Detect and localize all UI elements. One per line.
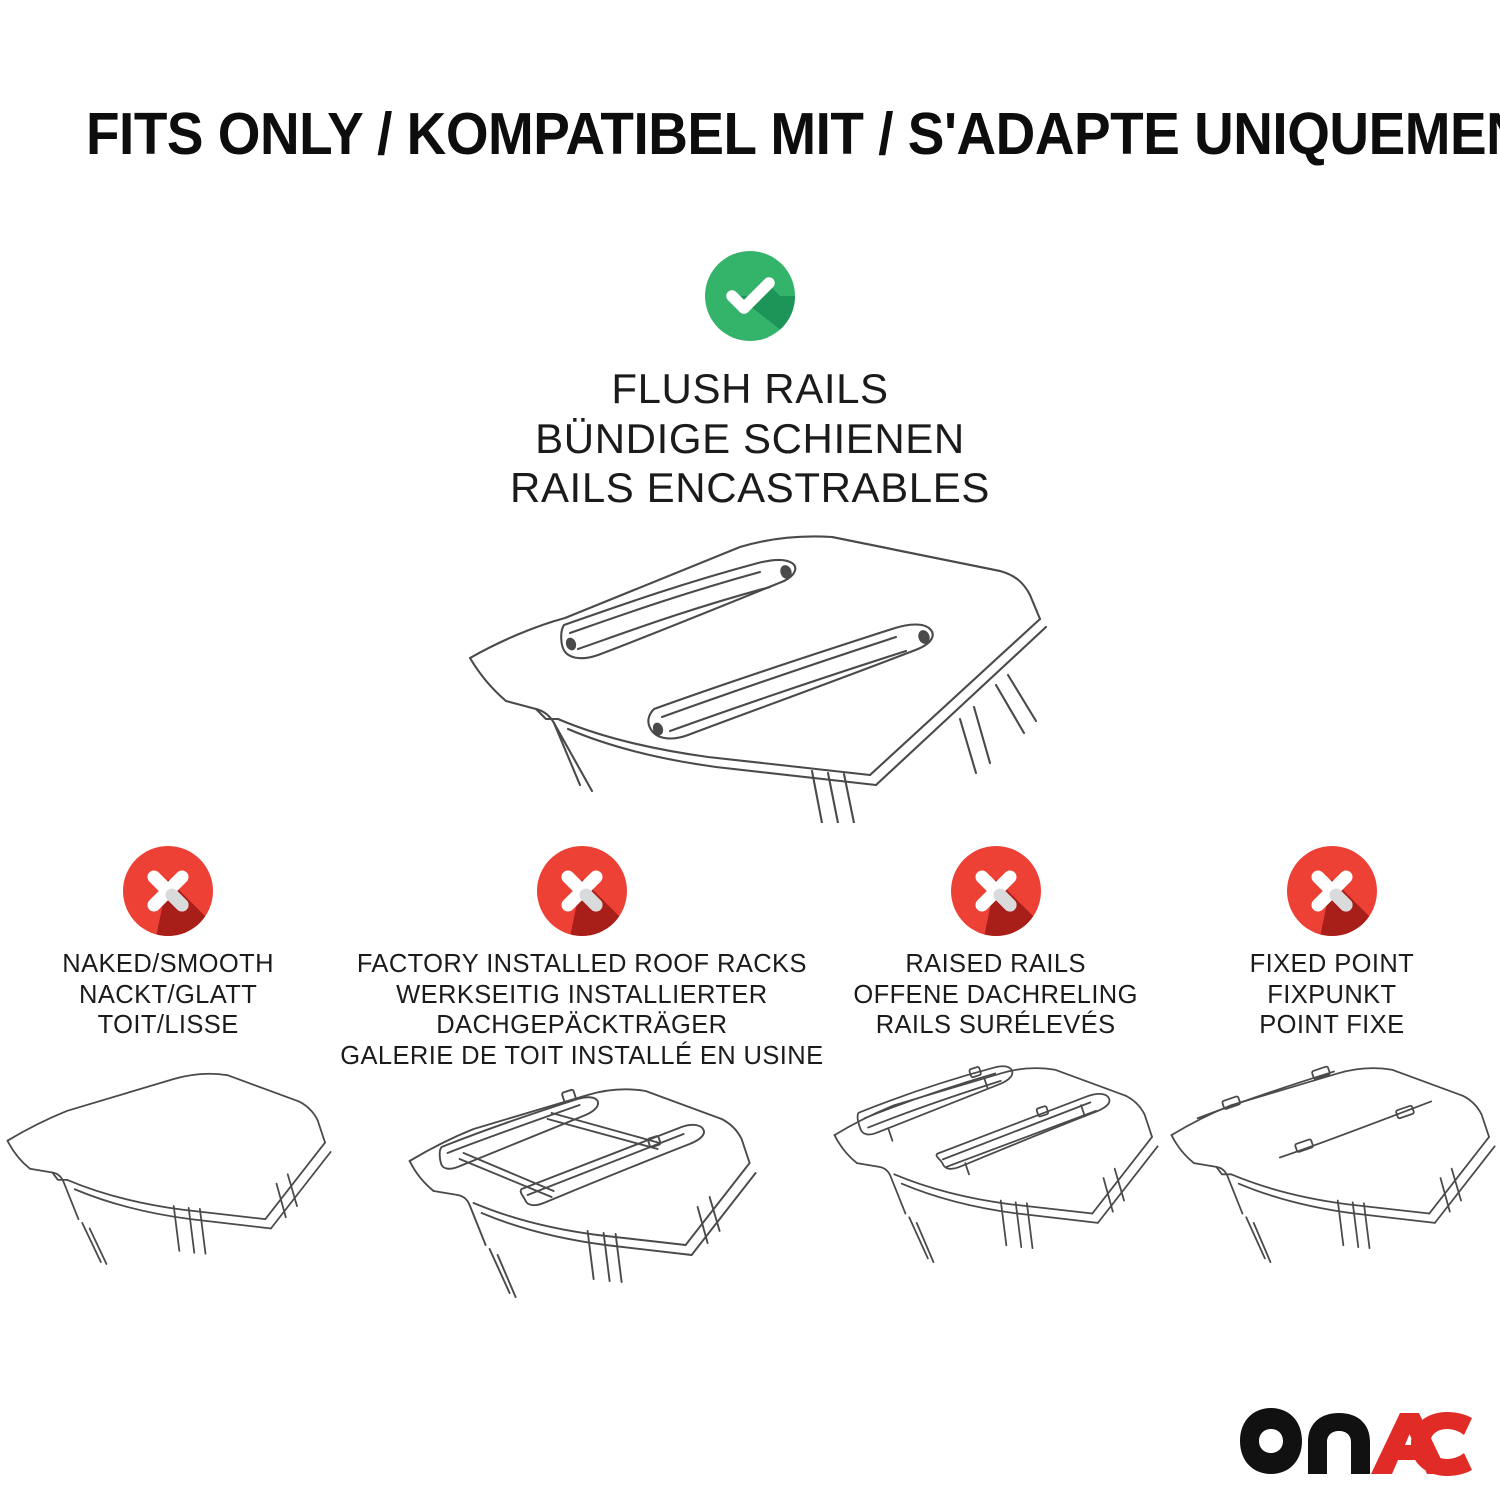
car-roof-fixed-point-illustration bbox=[1164, 1057, 1500, 1272]
car-roof-naked-smooth-illustration bbox=[0, 1057, 336, 1272]
caption-line-de-1: WERKSEITIG INSTALLIERTER bbox=[340, 980, 823, 1011]
caption-line-de: OFFENE DACHRELING bbox=[831, 980, 1159, 1011]
caption-line-en: FIXED POINT bbox=[1168, 949, 1496, 980]
car-roof-factory-rack-illustration bbox=[336, 1087, 827, 1302]
incompatible-caption: NAKED/SMOOTH NACKT/GLATT TOIT/LISSE bbox=[0, 949, 336, 1041]
compatible-heading-line-de: BÜNDIGE SCHIENEN bbox=[0, 414, 1500, 464]
caption-line-fr: POINT FIXE bbox=[1168, 1010, 1496, 1041]
caption-line-fr: GALERIE DE TOIT INSTALLÉ EN USINE bbox=[340, 1041, 823, 1072]
cross-circle-icon bbox=[536, 845, 628, 937]
caption-line-en: FACTORY INSTALLED ROOF RACKS bbox=[340, 949, 823, 980]
incompatible-column-fixed-point: FIXED POINT FIXPUNKT POINT FIXE bbox=[1164, 845, 1500, 1272]
omac-logo bbox=[1238, 1404, 1474, 1478]
compatible-section: FLUSH RAILS BÜNDIGE SCHIENEN RAILS ENCAS… bbox=[0, 250, 1500, 823]
incompatible-column-raised-rails: RAISED RAILS OFFENE DACHRELING RAILS SUR… bbox=[827, 845, 1163, 1272]
caption-line-fr: TOIT/LISSE bbox=[4, 1010, 332, 1041]
page-title: FITS ONLY / KOMPATIBEL MIT / S'ADAPTE UN… bbox=[86, 104, 1332, 166]
compatible-heading-line-fr: RAILS ENCASTRABLES bbox=[0, 463, 1500, 513]
caption-line-de-2: DACHGEPÄCKTRÄGER bbox=[340, 1010, 823, 1041]
caption-line-en: RAISED RAILS bbox=[831, 949, 1159, 980]
incompatible-column-naked-smooth: NAKED/SMOOTH NACKT/GLATT TOIT/LISSE bbox=[0, 845, 336, 1272]
caption-line-de: FIXPUNKT bbox=[1168, 980, 1496, 1011]
compatible-heading: FLUSH RAILS BÜNDIGE SCHIENEN RAILS ENCAS… bbox=[0, 364, 1500, 513]
caption-line-de: NACKT/GLATT bbox=[4, 980, 332, 1011]
incompatible-caption: FACTORY INSTALLED ROOF RACKS WERKSEITIG … bbox=[336, 949, 827, 1071]
cross-circle-icon bbox=[122, 845, 214, 937]
compatible-heading-line-en: FLUSH RAILS bbox=[0, 364, 1500, 414]
check-circle-icon bbox=[704, 250, 796, 342]
caption-line-en: NAKED/SMOOTH bbox=[4, 949, 332, 980]
cross-circle-icon bbox=[950, 845, 1042, 937]
car-roof-raised-rails-illustration bbox=[827, 1057, 1163, 1272]
car-roof-flush-rails-illustration bbox=[440, 523, 1060, 823]
caption-line-fr: RAILS SURÉLEVÉS bbox=[831, 1010, 1159, 1041]
incompatible-column-factory-roof-racks: FACTORY INSTALLED ROOF RACKS WERKSEITIG … bbox=[336, 845, 827, 1302]
incompatible-caption: RAISED RAILS OFFENE DACHRELING RAILS SUR… bbox=[827, 949, 1163, 1041]
incompatible-caption: FIXED POINT FIXPUNKT POINT FIXE bbox=[1164, 949, 1500, 1041]
cross-circle-icon bbox=[1286, 845, 1378, 937]
incompatible-section: NAKED/SMOOTH NACKT/GLATT TOIT/LISSE bbox=[0, 845, 1500, 1302]
